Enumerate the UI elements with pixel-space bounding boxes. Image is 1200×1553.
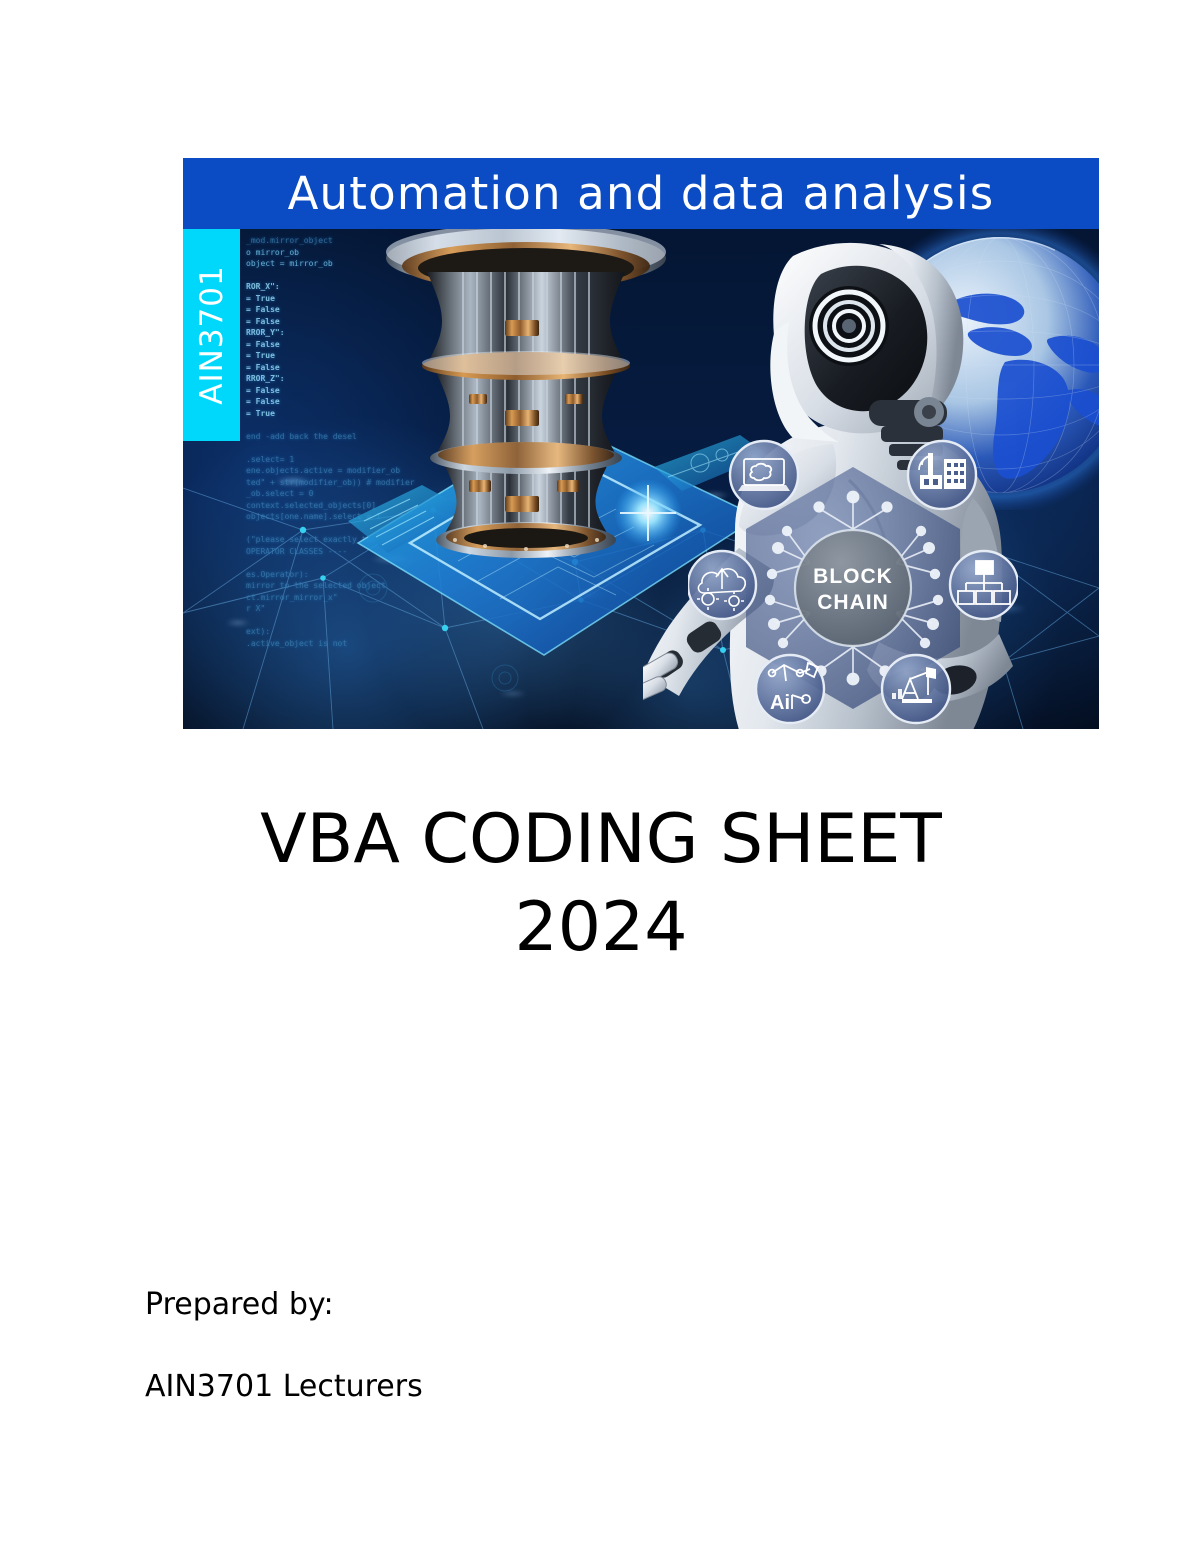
blockchain-label-line-2: CHAIN [817, 591, 889, 614]
ai-laptop-icon [730, 441, 798, 509]
smart-factory-icon [908, 441, 976, 509]
blockchain-label-line-1: BLOCK [813, 565, 893, 588]
cover-banner-text: Automation and data analysis [288, 167, 995, 220]
robot-arm-ai-icon: Ai [756, 655, 824, 723]
module-code-strip: AIN3701 [183, 229, 240, 441]
document-page: _mod.mirror_object o mirror_ob object = … [0, 0, 1200, 1553]
document-title-line-1: VBA CODING SHEET [260, 800, 942, 879]
cloud-gears-icon [688, 551, 756, 619]
prepared-by-label: Prepared by: [145, 1278, 845, 1332]
prepared-by-value: AIN3701 Lecturers [145, 1360, 845, 1414]
ai-badge-text: Ai [770, 692, 790, 714]
oil-pump-icon [882, 655, 950, 723]
prepared-by-block: Prepared by: AIN3701 Lecturers [145, 1278, 845, 1414]
module-code-label: AIN3701 [194, 265, 230, 404]
cover-banner: Automation and data analysis [183, 158, 1099, 229]
technology-icon-cluster: BLOCK CHAIN [688, 433, 1018, 729]
cover-image: _mod.mirror_object o mirror_ob object = … [183, 158, 1099, 729]
org-hierarchy-icon [950, 551, 1018, 619]
document-title-line-2: 2024 [143, 884, 1059, 972]
quantum-computer-icon [381, 224, 671, 579]
document-title: VBA CODING SHEET 2024 [143, 796, 1059, 972]
